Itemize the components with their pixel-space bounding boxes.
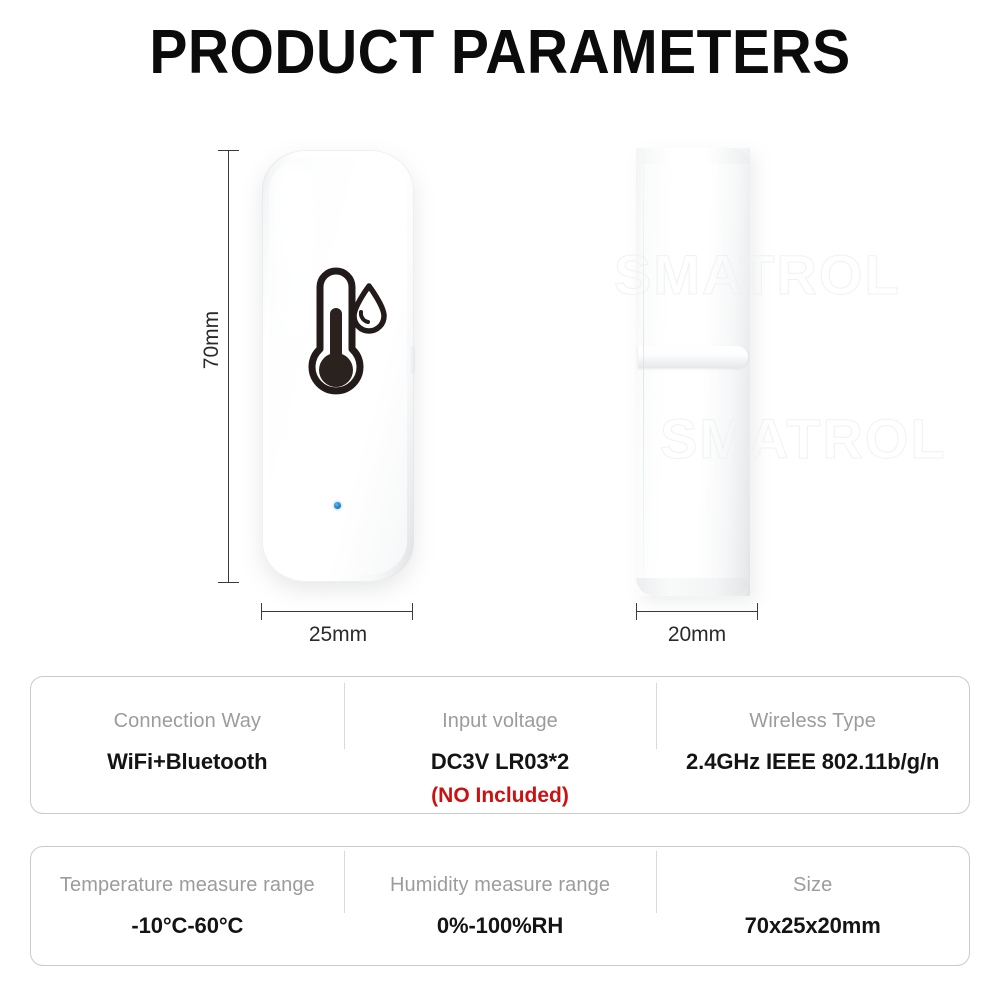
device-front-view bbox=[262, 150, 414, 582]
width-dimension-line bbox=[261, 611, 413, 612]
spec-value: DC3V LR03*2 bbox=[431, 749, 569, 775]
spec-column-humidity-range: Humidity measure range 0%-100%RH bbox=[344, 847, 657, 965]
spec-card-measurement: Temperature measure range -10°C-60°C Hum… bbox=[30, 846, 970, 966]
spec-value: 2.4GHz IEEE 802.11b/g/n bbox=[686, 749, 939, 775]
spec-column-wireless-type: Wireless Type 2.4GHz IEEE 802.11b/g/n bbox=[656, 677, 969, 813]
spec-column-connection-way: Connection Way WiFi+Bluetooth bbox=[31, 677, 344, 813]
spec-label: Size bbox=[793, 873, 832, 897]
thermometer-humidity-icon bbox=[290, 262, 390, 412]
height-dimension-line bbox=[228, 150, 229, 582]
spec-card-connectivity: Connection Way WiFi+Bluetooth Input volt… bbox=[30, 676, 970, 814]
depth-dimension-line bbox=[636, 611, 758, 612]
spec-value: 0%-100%RH bbox=[437, 913, 563, 939]
spec-column-size: Size 70x25x20mm bbox=[656, 847, 969, 965]
spec-column-temperature-range: Temperature measure range -10°C-60°C bbox=[31, 847, 344, 965]
brand-watermark: SMATROL bbox=[660, 406, 947, 471]
spec-label: Temperature measure range bbox=[60, 873, 315, 897]
height-dimension-cap-top bbox=[218, 150, 239, 151]
height-dimension-cap-bottom bbox=[218, 582, 239, 583]
spec-value: 70x25x20mm bbox=[745, 913, 881, 939]
depth-dimension-cap-left bbox=[636, 603, 637, 620]
depth-dimension-label: 20mm bbox=[636, 623, 758, 647]
page-title: PRODUCT PARAMETERS bbox=[40, 22, 960, 84]
spec-label: Input voltage bbox=[442, 709, 558, 733]
spec-label: Wireless Type bbox=[749, 709, 876, 733]
product-showcase: SMATROL SMATROL 70mm 25mm 20mm bbox=[0, 120, 1000, 660]
depth-dimension-cap-right bbox=[757, 603, 758, 620]
spec-value: WiFi+Bluetooth bbox=[107, 749, 267, 775]
width-dimension-label: 25mm bbox=[262, 623, 414, 647]
width-dimension-cap-left bbox=[261, 603, 262, 620]
device-side-top-cap bbox=[636, 148, 750, 164]
spec-note-not-included: (NO Included) bbox=[431, 783, 569, 808]
spec-value: -10°C-60°C bbox=[131, 913, 243, 939]
width-dimension-cap-right bbox=[412, 603, 413, 620]
height-dimension-label: 70mm bbox=[200, 300, 224, 380]
spec-label: Connection Way bbox=[114, 709, 261, 733]
device-side-bottom-cap bbox=[636, 578, 750, 596]
device-side-button bbox=[410, 346, 415, 374]
blue-led-indicator bbox=[334, 502, 341, 509]
spec-label: Humidity measure range bbox=[390, 873, 610, 897]
device-side-seam bbox=[638, 346, 748, 368]
brand-watermark: SMATROL bbox=[614, 242, 901, 307]
spec-column-input-voltage: Input voltage DC3V LR03*2 (NO Included) bbox=[344, 677, 657, 813]
device-side-view: SMATROL SMATROL bbox=[636, 148, 750, 596]
